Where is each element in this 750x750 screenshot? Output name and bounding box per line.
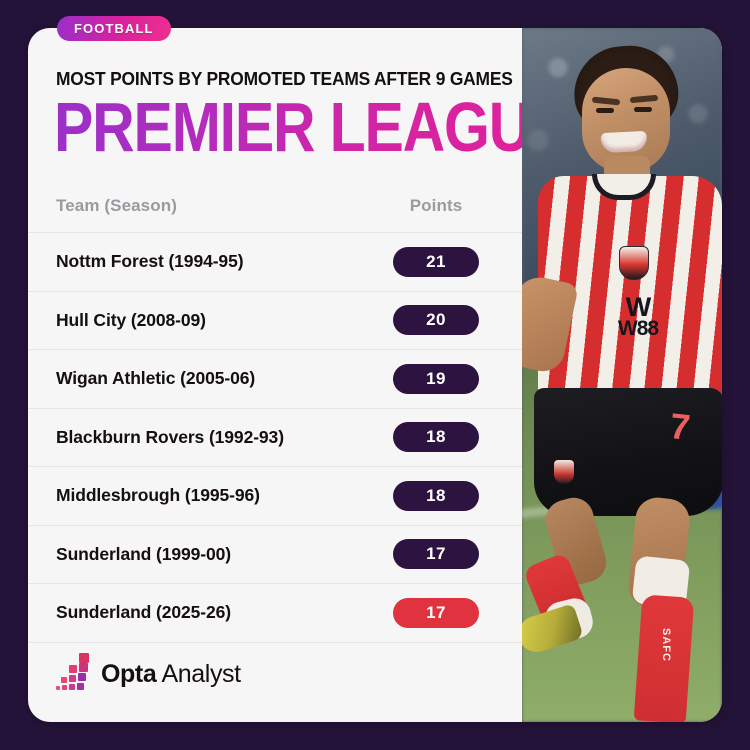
points-pill-highlighted: 17 [393,598,479,628]
cell-points: 18 [366,422,506,452]
cell-points: 18 [366,481,506,511]
points-pill: 18 [393,481,479,511]
column-header-team: Team (Season) [56,196,177,216]
category-badge: FOOTBALL [57,16,171,41]
cell-team: Hull City (2008-09) [56,310,206,331]
infographic-root: MOST POINTS BY PROMOTED TEAMS AFTER 9 GA… [0,0,750,750]
photo-player-eye-right [634,107,652,112]
opta-logo-icon [56,658,90,690]
cell-points: 19 [366,364,506,394]
table-row: Sunderland (1999-00) 17 [28,525,522,584]
points-pill: 18 [393,422,479,452]
cell-team: Sunderland (1999-00) [56,544,231,565]
cell-points: 17 [366,539,506,569]
opta-analyst-wordmark: Opta Analyst [101,660,241,689]
photo-player-eye-left [596,108,614,113]
points-pill: 20 [393,305,479,335]
cell-points: 17 [366,598,506,628]
footer-branding: Opta Analyst [56,658,241,690]
table-row: Middlesbrough (1995-96) 18 [28,466,522,525]
cell-team: Middlesbrough (1995-96) [56,485,260,506]
cell-team: Blackburn Rovers (1992-93) [56,427,284,448]
cell-points: 20 [366,305,506,335]
player-photo: W W88 7 SAFC [522,28,722,722]
points-pill: 17 [393,539,479,569]
brand-light: Analyst [156,660,240,688]
sponsor-logo-w: W [600,296,676,318]
table-row: Hull City (2008-09) 20 [28,291,522,350]
cell-points: 21 [366,247,506,277]
photo-shorts-crest [554,460,574,484]
table-row: Nottm Forest (1994-95) 21 [28,232,522,291]
photo-shorts [534,388,722,516]
column-header-points: Points [366,196,506,216]
table-row: Blackburn Rovers (1992-93) 18 [28,408,522,467]
photo-shirt-sponsor: W W88 [600,296,676,340]
brand-bold: Opta [101,660,156,688]
points-table: Team (Season) Points Nottm Forest (1994-… [28,188,522,643]
content-card: MOST POINTS BY PROMOTED TEAMS AFTER 9 GA… [28,28,722,722]
page-title: PREMIER LEAGUE [54,93,524,163]
cell-team: Sunderland (2025-26) [56,602,231,623]
photo-sock-text: SAFC [660,628,672,662]
cell-team: Nottm Forest (1994-95) [56,251,243,272]
subtitle-eyebrow: MOST POINTS BY PROMOTED TEAMS AFTER 9 GA… [56,68,479,90]
left-column: MOST POINTS BY PROMOTED TEAMS AFTER 9 GA… [28,28,522,722]
table-row-highlighted: Sunderland (2025-26) 17 [28,583,522,643]
sponsor-logo-w88: W88 [600,318,676,340]
table-row: Wigan Athletic (2005-06) 19 [28,349,522,408]
points-pill: 21 [393,247,479,277]
cell-team: Wigan Athletic (2005-06) [56,368,255,389]
points-pill: 19 [393,364,479,394]
table-header-row: Team (Season) Points [28,188,522,232]
photo-club-crest [619,246,649,280]
